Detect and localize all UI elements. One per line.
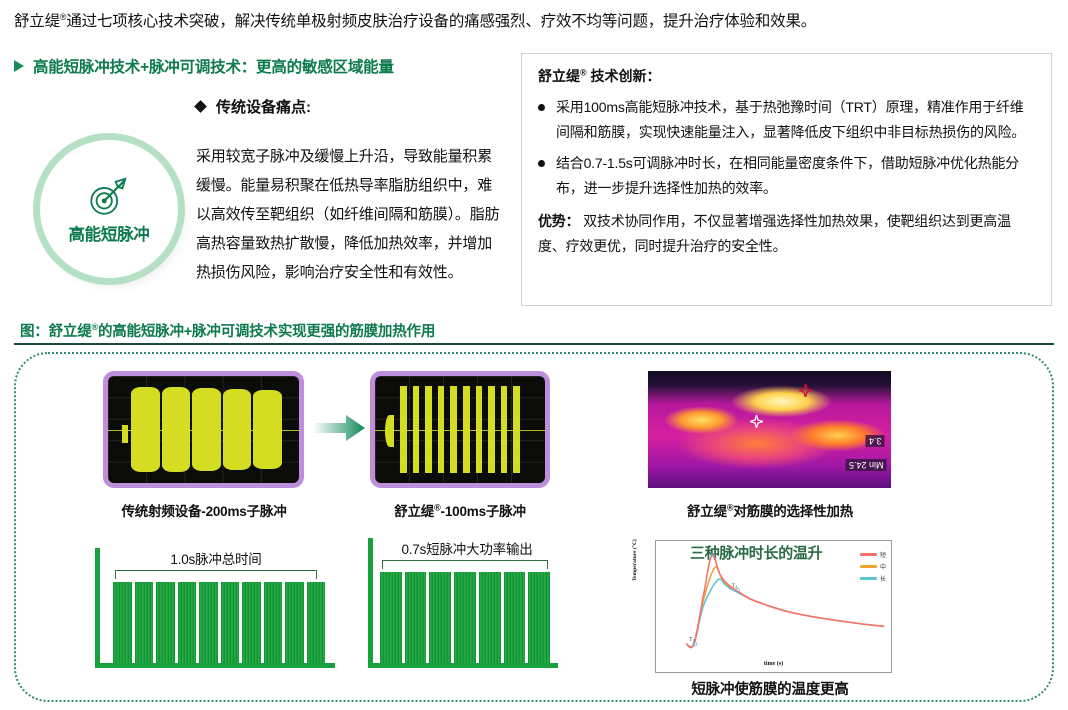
scope-pulse xyxy=(450,386,457,474)
thermal-image-caption: 舒立缇®对筋膜的选择性加热 xyxy=(625,500,915,520)
legend-label: 短 xyxy=(880,550,886,559)
badge-label: 高能短脉冲 xyxy=(68,221,149,245)
chart-plot-area: T₀T₁T₂ xyxy=(686,547,884,650)
arrow-right-icon xyxy=(313,411,365,445)
train-y-axis xyxy=(368,538,373,668)
train-b-bars xyxy=(380,572,550,663)
train-bar xyxy=(528,572,550,663)
figure-caption-brand: 舒立缇 xyxy=(49,324,92,340)
temperature-chart-caption: 短脉冲使筋膜的温度更高 xyxy=(625,678,915,699)
train-bar xyxy=(380,572,402,663)
advantage-block: 优势： 双技术协同作用，不仅显著增强选择性加热效果，使靶组织达到更高温度、疗效更… xyxy=(538,209,1037,259)
train-bar xyxy=(242,582,261,663)
pain-point-heading: 传统设备痛点: xyxy=(196,96,311,117)
card-bullet-1-text: 采用100ms高能短脉冲技术，基于热弛豫时间（TRT）原理，精准作用于纤维间隔和… xyxy=(556,95,1037,145)
card-bullet-2: 结合0.7-1.5s可调脉冲时长，在相同能量密度条件下，借助短脉冲优化热能分布，… xyxy=(538,151,1037,201)
chart-series-中 xyxy=(686,567,884,647)
train-bar xyxy=(264,582,283,663)
chart-annotation-label: T₂ xyxy=(732,583,738,589)
intro-paragraph: 舒立缇®通过七项核心技术突破，解决传统单极射频皮肤治疗设备的痛感强烈、疗效不均等… xyxy=(14,10,1054,33)
train-bar xyxy=(285,582,304,663)
figure-caption-rest: 的高能短脉冲+脉冲可调技术实现更强的筋膜加热作用 xyxy=(98,324,435,340)
train-bar xyxy=(113,582,132,663)
thermal-tag-low: Min 24.5 xyxy=(846,459,887,471)
caption-brand: 舒立缇 xyxy=(687,504,727,519)
bullet-dot-icon xyxy=(538,160,545,167)
train-b-label: 0.7s短脉冲大功率输出 xyxy=(376,538,558,558)
train-x-axis xyxy=(368,663,558,668)
oscilloscope-shuliti-caption: 舒立缇®-100ms子脉冲 xyxy=(352,500,568,520)
advantage-label: 优势： xyxy=(538,213,579,229)
caption-rest: -100ms子脉冲 xyxy=(441,504,526,519)
pulse-train-traditional: 1.0s脉冲总时间 xyxy=(95,548,335,668)
oscilloscope-traditional-caption: 传统射频设备-200ms子脉冲 xyxy=(73,500,335,520)
scope-pulse xyxy=(513,386,520,474)
train-a-label: 1.0s脉冲总时间 xyxy=(113,548,319,568)
scope-pulse xyxy=(463,386,470,474)
diamond-icon xyxy=(194,100,207,113)
train-bar xyxy=(479,572,501,663)
legend-item: 长 xyxy=(860,574,886,583)
scope-pulse xyxy=(253,390,282,469)
thermal-image: 3.4 Min 24.5 xyxy=(648,371,891,488)
intro-brand: 舒立缇 xyxy=(14,13,60,30)
pain-point-heading-label: 传统设备痛点: xyxy=(216,96,311,117)
scope-pulse xyxy=(413,386,420,474)
card-bullet-2-text: 结合0.7-1.5s可调脉冲时长，在相同能量密度条件下，借助短脉冲优化热能分布，… xyxy=(556,151,1037,201)
innovation-card: 舒立缇® 技术创新： 采用100ms高能短脉冲技术，基于热弛豫时间（TRT）原理… xyxy=(521,53,1052,306)
scope-pulse xyxy=(223,389,252,470)
scope-pulse xyxy=(400,386,407,474)
legend-swatch xyxy=(860,577,877,580)
legend-item: 短 xyxy=(860,550,886,559)
section-heading: 高能短脉冲技术+脉冲可调技术：更高的敏感区域能量 xyxy=(14,55,394,77)
train-bar xyxy=(199,582,218,663)
train-bar xyxy=(156,582,175,663)
chart-series-短 xyxy=(686,555,884,648)
train-bar xyxy=(504,572,526,663)
train-bar xyxy=(178,582,197,663)
train-a-brace xyxy=(115,570,317,579)
legend-item: 中 xyxy=(860,562,886,571)
train-bar xyxy=(221,582,240,663)
high-energy-badge: 高能短脉冲 xyxy=(31,131,197,297)
legend-swatch xyxy=(860,565,877,568)
figure-caption: 图：舒立缇®的高能短脉冲+脉冲可调技术实现更强的筋膜加热作用 xyxy=(20,320,435,341)
chart-series-长 xyxy=(686,579,884,647)
scope-pulse-train xyxy=(375,376,545,483)
caption-brand: 舒立缇 xyxy=(394,504,434,519)
train-x-axis xyxy=(95,663,335,668)
train-bar xyxy=(307,582,326,663)
scope-pulse-train xyxy=(108,376,299,483)
legend-label: 长 xyxy=(880,574,886,583)
scope-pulse xyxy=(162,387,191,473)
legend-label: 中 xyxy=(880,562,886,571)
chart-annotation-label: T₀ xyxy=(689,637,696,643)
scope-pulse xyxy=(476,386,483,474)
chart-x-axis-label: time (s) xyxy=(656,661,891,667)
scope-pulse xyxy=(488,386,495,474)
section-heading-label: 高能短脉冲技术+脉冲可调技术：更高的敏感区域能量 xyxy=(33,55,394,77)
caption-rest: 对筋膜的选择性加热 xyxy=(733,504,853,519)
card-bullet-1: 采用100ms高能短脉冲技术，基于热弛豫时间（TRT）原理，精准作用于纤维间隔和… xyxy=(538,95,1037,145)
temperature-chart: Temperature (°C) time (s) 三种脉冲时长的温升 T₀T₁… xyxy=(655,540,892,673)
crosshair-marker-icon xyxy=(750,415,763,428)
train-bar xyxy=(454,572,476,663)
scope-pulse xyxy=(501,386,508,474)
scope-pulse xyxy=(131,387,160,473)
chart-svg: T₀T₁T₂ xyxy=(686,547,884,650)
train-bar xyxy=(135,582,154,663)
chart-annotation-label: T₁ xyxy=(707,548,713,554)
figure-caption-prefix: 图： xyxy=(20,324,49,340)
chart-y-axis-label: Temperature (°C) xyxy=(632,539,638,581)
crosshair-marker-icon xyxy=(799,384,812,397)
registered-mark: ® xyxy=(580,67,587,77)
oscilloscope-shuliti xyxy=(370,371,550,488)
train-a-bars xyxy=(113,582,325,663)
target-dart-icon xyxy=(86,175,132,219)
legend-swatch xyxy=(860,553,877,556)
scope-pulse xyxy=(425,386,432,474)
intro-text: 通过七项核心技术突破，解决传统单极射频皮肤治疗设备的痛感强烈、疗效不均等问题，提… xyxy=(66,13,816,30)
oscilloscope-traditional xyxy=(103,371,304,488)
advantage-text: 双技术协同作用，不仅显著增强选择性加热效果，使靶组织达到更高温度、疗效更优，同时… xyxy=(538,213,1011,254)
train-y-axis xyxy=(95,548,100,668)
train-bar xyxy=(405,572,427,663)
card-title-rest: 技术创新： xyxy=(587,68,661,84)
innovation-card-title: 舒立缇® 技术创新： xyxy=(538,66,1037,86)
pain-point-body: 采用较宽子脉冲及缓慢上升沿，导致能量积累缓慢。能量易积聚在低热导率脂肪组织中，难… xyxy=(196,142,500,287)
scope-pulse xyxy=(438,386,445,474)
card-title-brand: 舒立缇 xyxy=(538,68,580,84)
thermal-tag-high: 3.4 xyxy=(866,435,885,447)
train-bar xyxy=(429,572,451,663)
badge-ring: 高能短脉冲 xyxy=(33,133,185,285)
chart-legend: 短 中 长 xyxy=(860,550,886,583)
train-b-brace xyxy=(382,560,548,569)
triangle-right-icon xyxy=(14,60,24,72)
scope-pulse xyxy=(192,388,221,471)
bullet-dot-icon xyxy=(538,104,545,111)
pulse-train-shuliti: 0.7s短脉冲大功率输出 xyxy=(368,538,558,668)
figure-divider xyxy=(14,343,1054,345)
